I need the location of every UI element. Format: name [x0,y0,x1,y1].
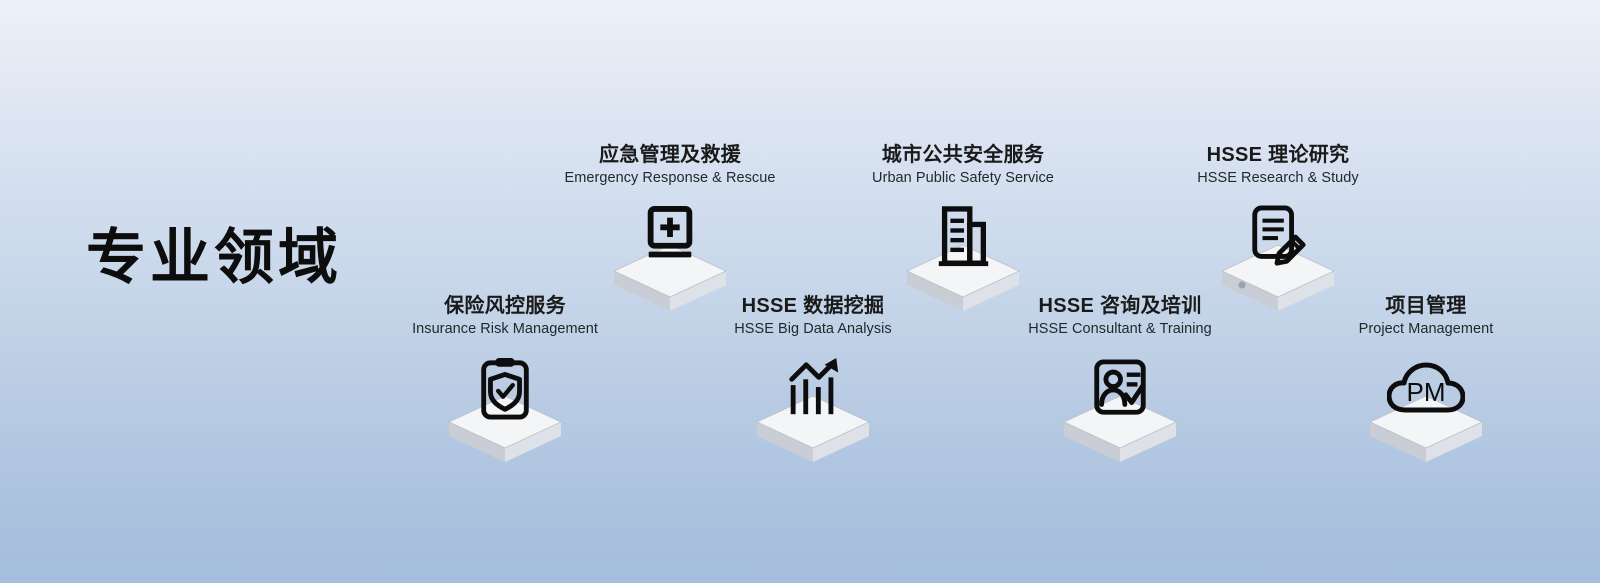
domain-caption-en: HSSE Big Data Analysis [663,320,963,338]
domain-podium-wrap [1128,196,1428,311]
page-title: 专业领域 [86,228,342,288]
domain-card-insurance-risk-management[interactable]: 保险风控服务 Insurance Risk Management [355,295,655,462]
domain-card-emergency-response-rescue[interactable]: 应急管理及救援 Emergency Response & Rescue [520,144,820,311]
domain-card-hsse-big-data-analysis[interactable]: HSSE 数据挖掘 HSSE Big Data Analysis [663,295,963,462]
domain-caption-cn: 应急管理及救援 [520,144,820,166]
domain-caption-cn: HSSE 理论研究 [1128,144,1428,166]
domain-podium-wrap [520,196,820,311]
domain-caption-cn: 项目管理 [1276,295,1576,317]
domain-caption-en: Insurance Risk Management [355,320,655,338]
domain-caption-en: HSSE Consultant & Training [970,320,1270,338]
domain-caption-en: Emergency Response & Rescue [520,169,820,187]
domain-podium-wrap [663,347,963,462]
office-building-icon [932,205,994,271]
domain-caption-en: HSSE Research & Study [1128,169,1428,187]
medical-plus-monitor-icon [639,205,701,271]
domain-card-hsse-consultant-training[interactable]: HSSE 咨询及培训 HSSE Consultant & Training [970,295,1270,462]
cloud-pm-icon: PM [1387,360,1465,416]
domain-card-project-management[interactable]: 项目管理 Project Management PM [1276,295,1576,462]
domain-podium-wrap: PM [1276,347,1576,462]
clipboard-shield-check-icon [474,356,536,422]
domain-podium-wrap [813,196,1113,311]
domain-podium-wrap [355,347,655,462]
professional-domains-banner: 专业领域 保险风控服务 Insurance Risk Management [0,0,1600,583]
svg-text:PM: PM [1407,377,1446,407]
domain-caption-en: Urban Public Safety Service [813,169,1113,187]
domain-card-hsse-research-study[interactable]: HSSE 理论研究 HSSE Research & Study [1128,144,1428,311]
person-id-card-check-icon [1089,356,1151,422]
document-pencil-icon [1247,205,1309,271]
domain-caption-cn: 城市公共安全服务 [813,144,1113,166]
bar-chart-trend-icon [782,356,844,422]
domain-caption-en: Project Management [1276,320,1576,338]
domain-card-urban-public-safety-service[interactable]: 城市公共安全服务 Urban Public Safety Service [813,144,1113,311]
domain-podium-wrap [970,347,1270,462]
